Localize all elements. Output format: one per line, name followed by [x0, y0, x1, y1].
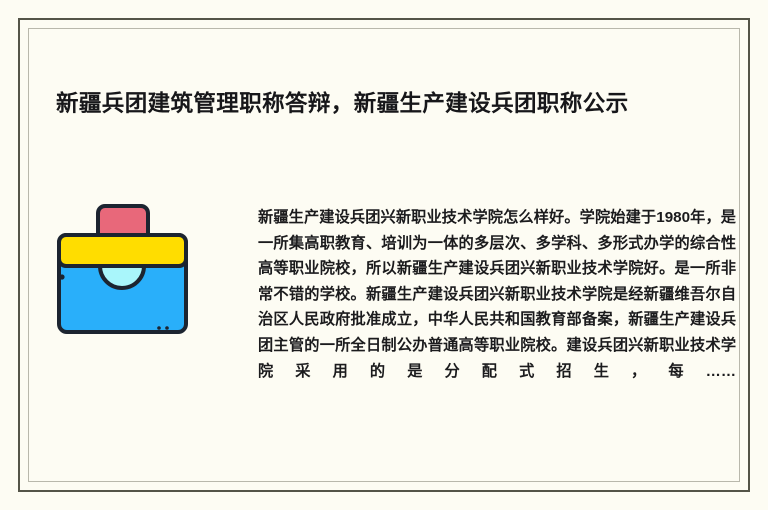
article-body-text: 新疆生产建设兵团兴新职业技术学院怎么样好。学院始建于1980年，是一所集高职教育… — [258, 205, 736, 384]
briefcase-icon — [55, 198, 190, 343]
briefcase-illustration — [55, 198, 190, 343]
briefcase-dot-left — [59, 274, 64, 279]
briefcase-dot-bottom-b — [165, 326, 169, 330]
page-title: 新疆兵团建筑管理职称答辩，新疆生产建设兵团职称公示 — [56, 90, 736, 118]
briefcase-dot-bottom-a — [157, 326, 161, 330]
page-root: 新疆兵团建筑管理职称答辩，新疆生产建设兵团职称公示 新疆生产建设兵团兴新职业技术… — [0, 0, 768, 510]
briefcase-lid — [59, 235, 186, 266]
